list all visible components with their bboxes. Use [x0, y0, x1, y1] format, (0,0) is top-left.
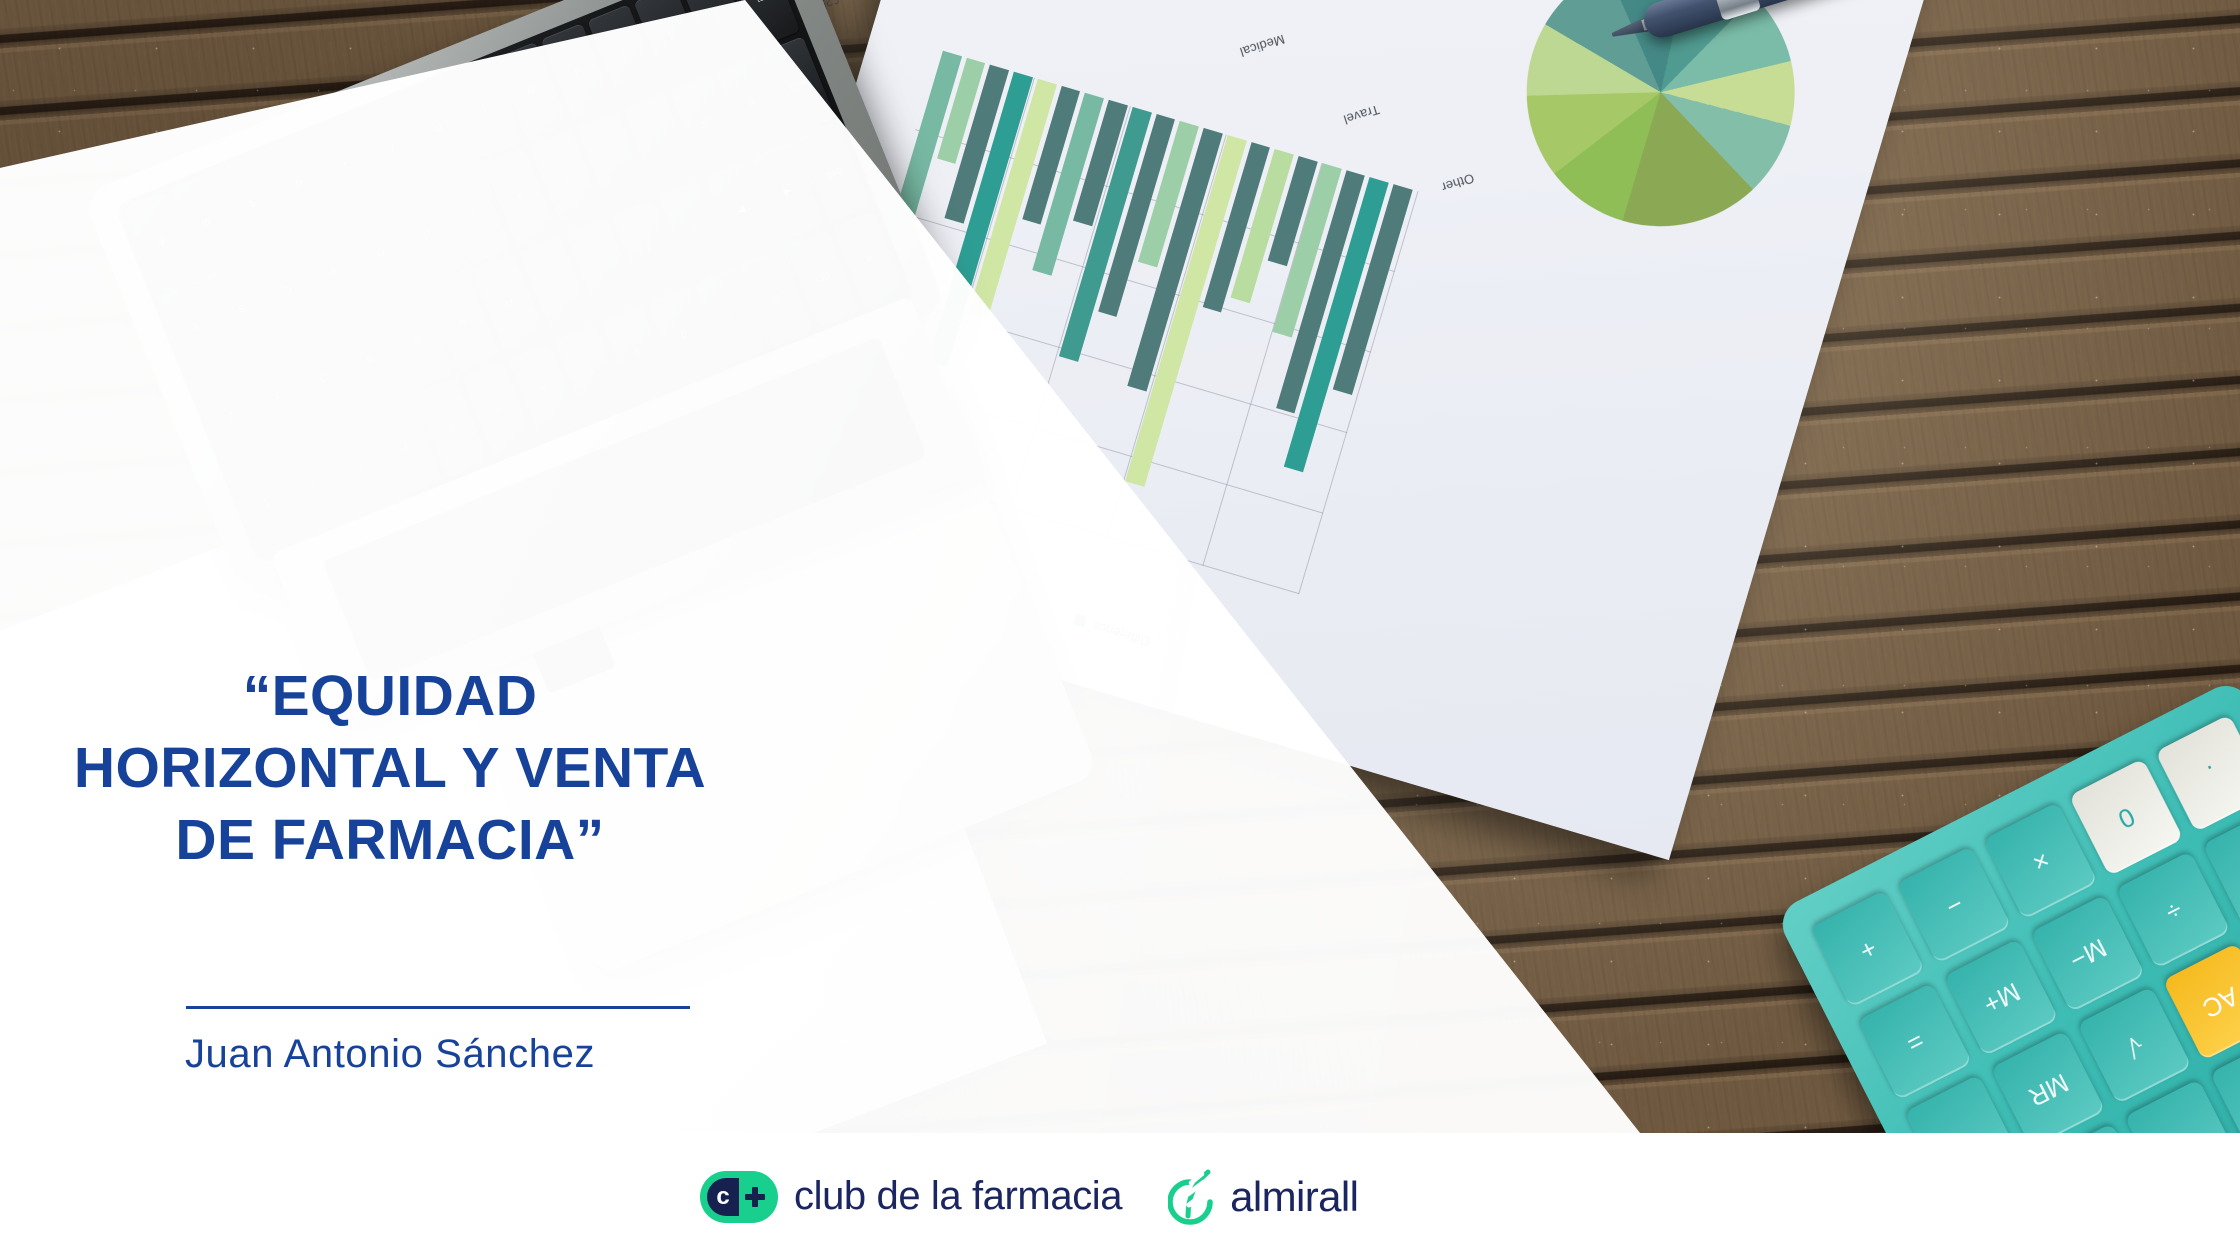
slide-canvas: Other Travel Medical Food Auto £0.00 £12… — [0, 0, 2240, 1260]
title-line-1: “EQUIDAD — [0, 660, 780, 732]
footer-bar: c club de la farmacia — [0, 1133, 2240, 1260]
slide-title: “EQUIDAD HORIZONTAL Y VENTA DE FARMACIA” — [0, 660, 780, 876]
club-pill-inner: c — [707, 1178, 771, 1216]
calc-key-memory-plus: M+ — [1944, 939, 2058, 1056]
club-wordmark: club de la farmacia — [794, 1174, 1122, 1219]
calc-key-divide: ÷ — [2116, 851, 2230, 968]
title-divider — [186, 1006, 690, 1009]
bar-category-label-travel: Travel — [1342, 102, 1382, 127]
club-pill-left-half: c — [707, 1178, 739, 1216]
calc-key-equals: = — [1858, 983, 1972, 1100]
footer-logo-group: c club de la farmacia — [700, 1166, 1358, 1228]
bar-category-label-other: Other — [1440, 171, 1476, 195]
bar-category-label-medical: Medical — [1238, 32, 1287, 60]
title-line-3: DE FARMACIA” — [0, 804, 780, 876]
calc-key: + — [1811, 890, 1925, 1007]
almirall-wordmark: almirall — [1230, 1173, 1358, 1221]
plus-icon-horizontal — [745, 1194, 765, 1200]
club-letter-c: c — [716, 1185, 729, 1209]
title-line-2: HORIZONTAL Y VENTA — [0, 732, 780, 804]
background-photo: Other Travel Medical Food Auto £0.00 £12… — [0, 0, 2240, 1133]
club-pill-icon: c — [700, 1171, 778, 1223]
calc-key: − — [1897, 846, 2011, 963]
almirall-leaf-icon — [1168, 1166, 1220, 1228]
club-pill-right-half — [739, 1178, 771, 1216]
almirall-logo[interactable]: almirall — [1168, 1166, 1358, 1228]
speaker-name: Juan Antonio Sánchez — [0, 1032, 780, 1077]
club-de-la-farmacia-logo[interactable]: c club de la farmacia — [700, 1171, 1122, 1223]
